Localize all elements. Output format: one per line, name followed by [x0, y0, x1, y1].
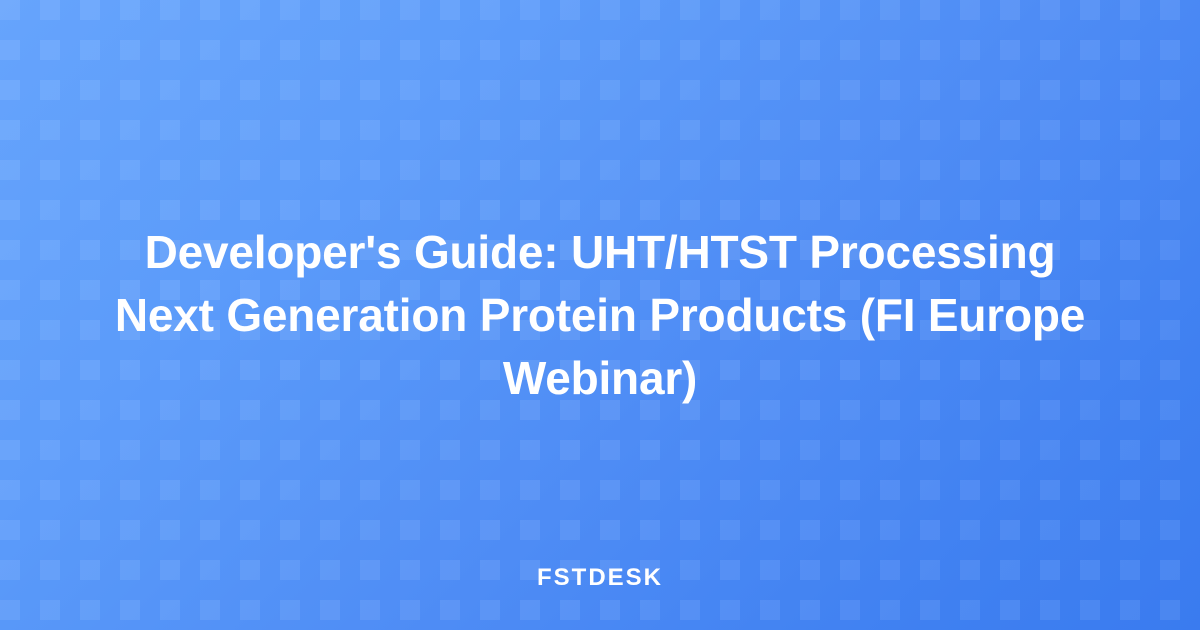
card-content: Developer's Guide: UHT/HTST Processing N…: [0, 0, 1200, 630]
og-share-card: Developer's Guide: UHT/HTST Processing N…: [0, 0, 1200, 630]
page-title: Developer's Guide: UHT/HTST Processing N…: [100, 221, 1100, 410]
